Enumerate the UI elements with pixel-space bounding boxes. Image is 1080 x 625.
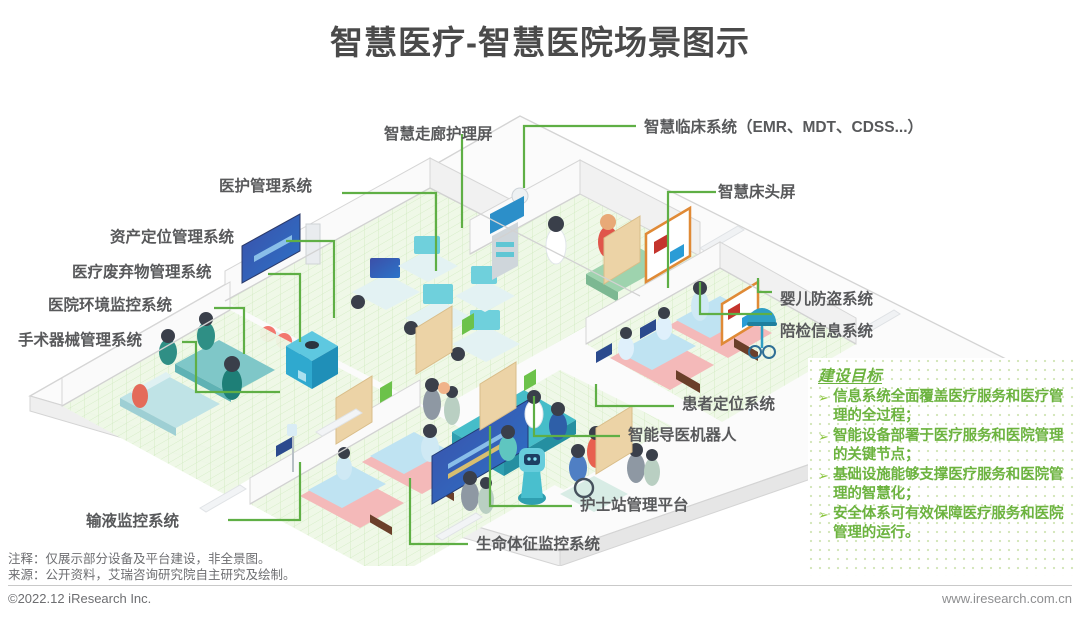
footer-website[interactable]: www.iresearch.com.cn bbox=[942, 591, 1072, 606]
callout-label-infusion-monitor: 输液监控系统 bbox=[86, 513, 179, 530]
goal-item-text: 基础设施能够支撑医疗服务和医院管理的智慧化； bbox=[833, 466, 1072, 504]
goal-item-text: 智能设备部署于医疗服务和医院管理的关键节点； bbox=[833, 427, 1072, 465]
callout-label-corridor-care-screen: 智慧走廊护理屏 bbox=[384, 126, 493, 143]
goal-item: ➢ 基础设施能够支撑医疗服务和医院管理的智慧化； bbox=[818, 466, 1072, 504]
footer-copyright: ©2022.12 iResearch Inc. bbox=[8, 591, 151, 606]
callout-label-surgical-instrument-mgmt: 手术器械管理系统 bbox=[18, 332, 142, 349]
goal-item: ➢ 安全体系可有效保障医疗服务和医院管理的运行。 bbox=[818, 505, 1072, 543]
callout-label-asset-location-mgmt: 资产定位管理系统 bbox=[110, 229, 234, 246]
callout-label-nurse-station-platform: 护士站管理平台 bbox=[580, 497, 689, 514]
goal-item-text: 信息系统全面覆盖医疗服务和医疗管理的全过程； bbox=[833, 388, 1072, 426]
callout-label-clinical-system: 智慧临床系统（EMR、MDT、CDSS...） bbox=[644, 119, 923, 136]
page-title: 智慧医疗-智慧医院场景图示 bbox=[0, 16, 1080, 64]
infographic-page: 智慧医疗-智慧医院场景图示 bbox=[0, 0, 1080, 625]
goal-item-text: 安全体系可有效保障医疗服务和医院管理的运行。 bbox=[833, 505, 1072, 543]
callout-label-medical-waste-mgmt: 医疗废弃物管理系统 bbox=[72, 264, 212, 281]
goal-bullet-icon: ➢ bbox=[818, 505, 833, 524]
callout-label-guide-robot: 智能导医机器人 bbox=[628, 427, 737, 444]
footer-notes: 注释：仅展示部分设备及平台建设，非全景图。 来源：公开资料，艾瑞咨询研究院自主研… bbox=[8, 551, 1072, 586]
goals-panel-title: 建设目标 bbox=[818, 364, 1072, 386]
goal-bullet-icon: ➢ bbox=[818, 427, 833, 446]
callout-label-smart-bedside-screen: 智慧床头屏 bbox=[718, 184, 796, 201]
callout-label-medical-staff-mgmt: 医护管理系统 bbox=[219, 178, 312, 195]
goal-bullet-icon: ➢ bbox=[818, 466, 833, 485]
goal-item: ➢ 信息系统全面覆盖医疗服务和医疗管理的全过程； bbox=[818, 388, 1072, 426]
callout-label-infant-anti-theft: 婴儿防盗系统 bbox=[780, 291, 873, 308]
callout-label-escort-info-system: 陪检信息系统 bbox=[780, 323, 873, 340]
footer-note: 注释：仅展示部分设备及平台建设，非全景图。 bbox=[8, 551, 1072, 567]
goal-item: ➢ 智能设备部署于医疗服务和医院管理的关键节点； bbox=[818, 427, 1072, 465]
goal-bullet-icon: ➢ bbox=[818, 388, 833, 407]
footer-divider bbox=[8, 585, 1072, 586]
callout-label-patient-location: 患者定位系统 bbox=[682, 396, 775, 413]
construction-goals-panel: 建设目标 ➢ 信息系统全面覆盖医疗服务和医疗管理的全过程； ➢ 智能设备部署于医… bbox=[808, 358, 1080, 576]
callout-label-hospital-env-monitor: 医院环境监控系统 bbox=[48, 297, 172, 314]
footer-source: 来源：公开资料，艾瑞咨询研究院自主研究及绘制。 bbox=[8, 567, 1072, 583]
